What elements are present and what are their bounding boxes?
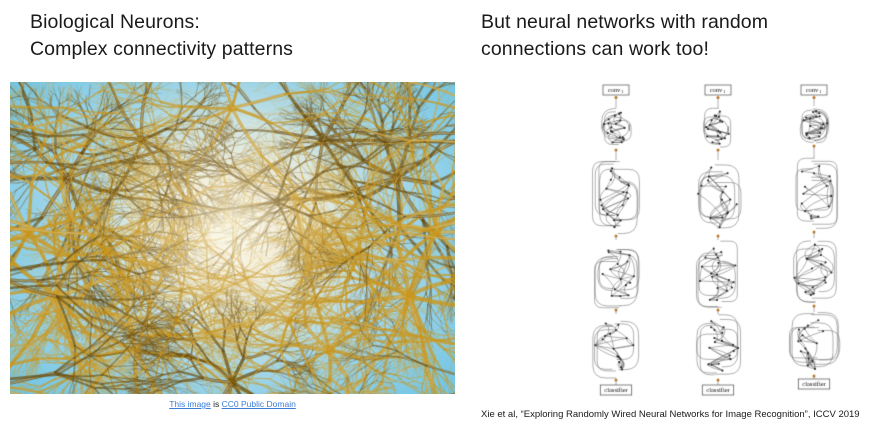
paper-citation: Xie et al, “Exploring Randomly Wired Neu… [481,408,881,421]
image-credit-link-license[interactable]: CC0 Public Domain [222,399,296,409]
biological-neurons-image [10,82,455,394]
image-credit-link-source[interactable]: This image [169,399,211,409]
image-credit-separator: is [211,399,222,409]
right-panel-heading: But neural networks with random connecti… [481,9,881,63]
biological-neurons-canvas [10,82,455,394]
randomly-wired-network-canvas [532,82,884,400]
image-credit: This image is CC0 Public Domain [10,399,455,410]
left-panel-heading: Biological Neurons: Complex connectivity… [30,9,450,63]
randomly-wired-network-diagram [532,82,884,400]
